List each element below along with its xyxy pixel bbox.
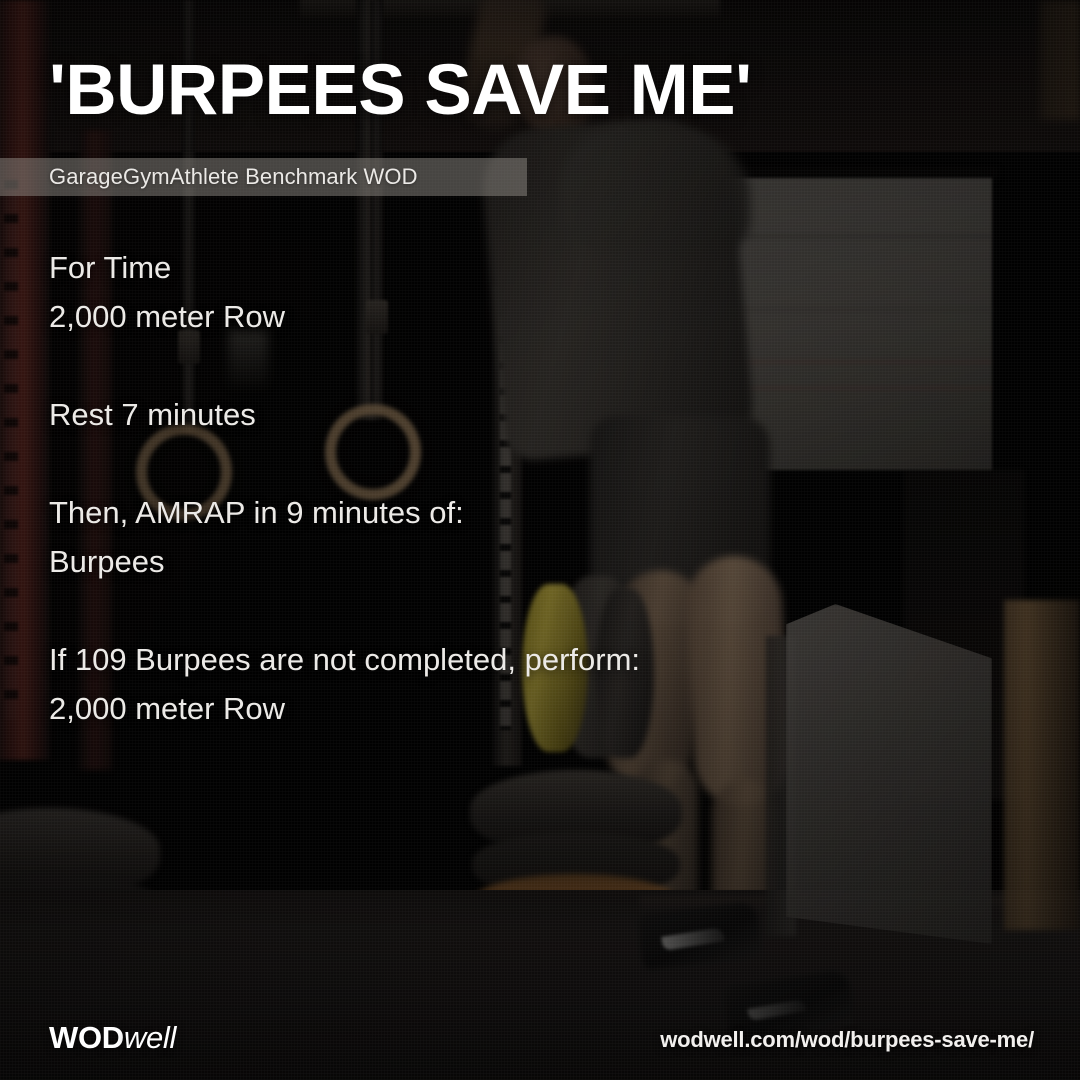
wod-card: 'BURPEES SAVE ME' GarageGymAthlete Bench… xyxy=(0,0,1080,1080)
wod-line: 2,000 meter Row xyxy=(49,292,1009,341)
wod-line: 2,000 meter Row xyxy=(49,684,1009,733)
wod-title: 'BURPEES SAVE ME' xyxy=(49,55,752,126)
wod-line: For Time xyxy=(49,243,1009,292)
logo-wod: WOD xyxy=(49,1020,124,1055)
wod-line-spacer xyxy=(49,586,1009,635)
wod-description: For Time 2,000 meter Row Rest 7 minutes … xyxy=(49,243,1009,733)
card-footer: WODwell wodwell.com/wod/burpees-save-me/ xyxy=(0,998,1080,1080)
card-content: 'BURPEES SAVE ME' GarageGymAthlete Bench… xyxy=(0,0,1080,1080)
wod-subtitle-bar: GarageGymAthlete Benchmark WOD xyxy=(0,158,527,196)
wod-line-spacer xyxy=(49,439,1009,488)
wod-subtitle: GarageGymAthlete Benchmark WOD xyxy=(0,164,418,190)
wod-line: Burpees xyxy=(49,537,1009,586)
wodwell-logo[interactable]: WODwell xyxy=(49,1020,176,1056)
wod-line-spacer xyxy=(49,341,1009,390)
wod-line: Rest 7 minutes xyxy=(49,390,1009,439)
wod-line: If 109 Burpees are not completed, perfor… xyxy=(49,635,1009,684)
wod-line: Then, AMRAP in 9 minutes of: xyxy=(49,488,1009,537)
logo-well: well xyxy=(124,1020,176,1055)
wod-url[interactable]: wodwell.com/wod/burpees-save-me/ xyxy=(660,1027,1034,1053)
